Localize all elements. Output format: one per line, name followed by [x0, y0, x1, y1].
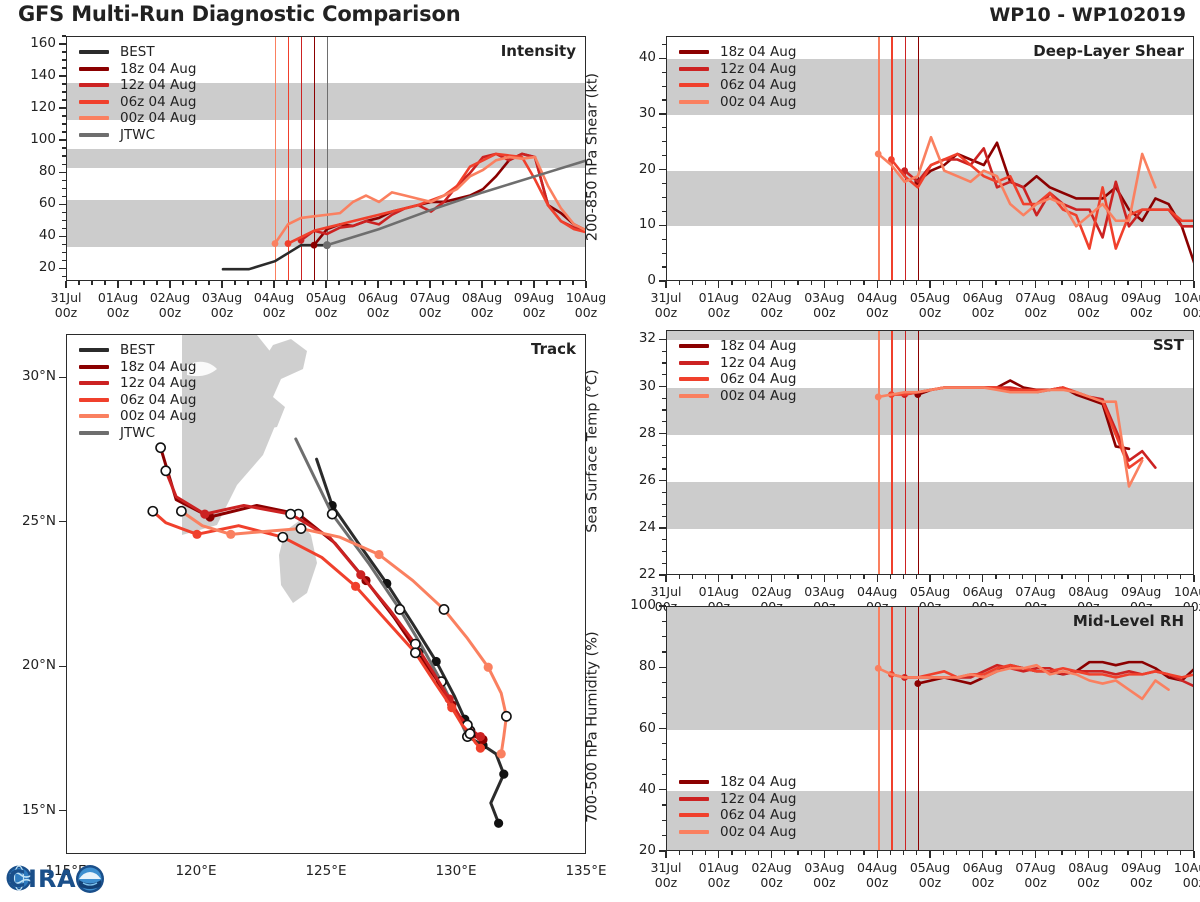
y-tick-mark [59, 377, 66, 378]
panel-title-mid-level-rh: Mid-Level RH [1073, 612, 1184, 630]
y-minor-tick [62, 244, 66, 245]
x-tick-label: 10Aug00z [1159, 290, 1200, 320]
x-tick-hour: 00z [1130, 875, 1152, 890]
x-minor-tick [969, 851, 970, 855]
legend-item[interactable]: JTWC [79, 127, 196, 144]
legend-item[interactable]: 18z 04 Aug [679, 774, 796, 791]
legend-swatch [79, 365, 109, 369]
y-minor-tick [662, 457, 666, 458]
x-minor-tick [784, 851, 785, 855]
y-minor-tick [662, 682, 666, 683]
y-minor-tick [662, 835, 666, 836]
x-tick-hour: 00z [419, 305, 441, 320]
x-minor-tick [364, 281, 365, 285]
y-minor-tick [662, 374, 666, 375]
x-tick-date: 03Aug [804, 860, 844, 875]
x-tick-date: 09Aug [1121, 290, 1161, 305]
x-tick-mark [824, 281, 825, 288]
x-minor-tick [1180, 575, 1181, 579]
series-start-marker [875, 394, 882, 401]
y-minor-tick [662, 804, 666, 805]
storm-id-label: WP10 - WP102019 [989, 4, 1186, 26]
legend-swatch [79, 431, 109, 435]
x-tick-date: 08Aug [462, 290, 502, 305]
x-tick-date: 06Aug [358, 290, 398, 305]
y-minor-tick [662, 58, 666, 59]
y-minor-tick [662, 409, 666, 410]
x-tick-label: 10Aug00z [551, 290, 621, 320]
legend-label: 12z 04 Aug [720, 61, 796, 77]
x-minor-tick [338, 281, 339, 285]
y-minor-tick [662, 621, 666, 622]
legend-swatch [679, 797, 709, 801]
x-minor-tick [916, 575, 917, 579]
x-tick-label: 10Aug00z [1159, 860, 1200, 890]
x-minor-tick [208, 281, 209, 285]
legend-swatch [79, 398, 109, 402]
x-tick-date: 05Aug [910, 584, 950, 599]
x-tick-date: 10Aug [1174, 584, 1200, 599]
x-tick-hour: 00z [813, 875, 835, 890]
x-minor-tick [1114, 281, 1115, 285]
x-minor-tick [1154, 575, 1155, 579]
x-tick-date: 04Aug [857, 860, 897, 875]
y-minor-tick [662, 563, 666, 564]
y-minor-tick [62, 228, 66, 229]
legend-item[interactable]: 12z 04 Aug [79, 375, 196, 392]
legend-item[interactable]: BEST [79, 44, 196, 61]
x-minor-tick [956, 281, 957, 285]
x-minor-tick [903, 281, 904, 285]
x-minor-tick [390, 281, 391, 285]
x-minor-tick [247, 281, 248, 285]
x-minor-tick [811, 851, 812, 855]
legend-swatch [679, 394, 709, 398]
y-minor-tick [662, 651, 666, 652]
x-minor-tick [78, 281, 79, 285]
legend-item[interactable]: 06z 04 Aug [679, 371, 796, 388]
y-minor-tick [662, 820, 666, 821]
x-minor-tick [731, 281, 732, 285]
x-tick-mark [982, 851, 983, 858]
x-tick-date: 05Aug [306, 290, 346, 305]
x-tick-date: 01Aug [699, 860, 739, 875]
legend-swatch [79, 50, 109, 54]
legend-label: BEST [120, 44, 155, 60]
y-tick-label: 40 [0, 227, 56, 243]
x-tick-label: 120°E [156, 864, 236, 879]
series-start-marker [285, 240, 292, 247]
y-minor-tick [662, 339, 666, 340]
x-tick-mark [481, 281, 482, 288]
x-tick-hour: 00z [972, 875, 994, 890]
x-tick-mark [1035, 851, 1036, 858]
y-tick-mark [59, 521, 66, 522]
y-minor-tick [62, 164, 66, 165]
x-tick-mark [771, 575, 772, 582]
cira-logo: CIRA [4, 858, 108, 898]
x-minor-tick [1101, 281, 1102, 285]
x-minor-tick [403, 281, 404, 285]
x-tick-mark [824, 851, 825, 858]
x-minor-tick [850, 281, 851, 285]
x-minor-tick [916, 281, 917, 285]
cira-wordmark: CIRA [8, 865, 76, 893]
legend-item[interactable]: 12z 04 Aug [679, 61, 796, 78]
y-minor-tick [662, 480, 666, 481]
x-minor-tick [890, 575, 891, 579]
track-point-marker [476, 744, 485, 753]
x-minor-tick [1061, 851, 1062, 855]
x-tick-hour: 00z [211, 305, 233, 320]
x-tick-date: 08Aug [1068, 584, 1108, 599]
x-tick-hour: 00z [107, 305, 129, 320]
x-minor-tick [1180, 851, 1181, 855]
legend-label: 06z 04 Aug [720, 77, 796, 93]
track-point-marker [192, 530, 201, 539]
x-minor-tick [863, 851, 864, 855]
x-minor-tick [195, 281, 196, 285]
x-tick-date: 07Aug [410, 290, 450, 305]
x-minor-tick [1114, 851, 1115, 855]
legend-item[interactable]: 18z 04 Aug [79, 61, 196, 78]
y-minor-tick [662, 697, 666, 698]
y-minor-tick [662, 759, 666, 760]
legend-item[interactable]: 18z 04 Aug [679, 44, 796, 61]
x-minor-tick [679, 281, 680, 285]
x-minor-tick [234, 281, 235, 285]
track-point-marker [465, 729, 474, 738]
x-tick-date: 02Aug [751, 290, 791, 305]
x-minor-tick [1075, 281, 1076, 285]
legend-label: 00z 04 Aug [720, 388, 796, 404]
x-minor-tick [1009, 575, 1010, 579]
y-tick-label: 140 [0, 67, 56, 83]
x-tick-hour: 00z [1077, 305, 1099, 320]
y-minor-tick [662, 421, 666, 422]
y-axis-label: 700-500 hPa Humidity (%) [584, 604, 600, 849]
x-minor-tick [679, 851, 680, 855]
legend-item[interactable]: 00z 04 Aug [79, 110, 196, 127]
x-minor-tick [507, 281, 508, 285]
legend-item[interactable]: 00z 04 Aug [679, 824, 796, 841]
legend-item[interactable]: 00z 04 Aug [79, 408, 196, 425]
x-minor-tick [784, 281, 785, 285]
x-minor-tick [546, 281, 547, 285]
x-minor-tick [705, 851, 706, 855]
x-tick-mark [665, 851, 666, 858]
y-minor-tick [662, 183, 666, 184]
x-tick-date: 08Aug [1068, 860, 1108, 875]
legend-item[interactable]: 18z 04 Aug [679, 338, 796, 355]
legend-swatch [679, 67, 709, 71]
y-minor-tick [62, 276, 66, 277]
track-point-marker [499, 770, 508, 779]
y-minor-tick [62, 43, 66, 44]
x-tick-mark [718, 575, 719, 582]
y-minor-tick [662, 266, 666, 267]
y-minor-tick [62, 252, 66, 253]
x-tick-hour: 00z [55, 305, 77, 320]
x-minor-tick [1127, 851, 1128, 855]
x-tick-hour: 00z [919, 305, 941, 320]
x-minor-tick [286, 281, 287, 285]
x-tick-hour: 00z [866, 875, 888, 890]
x-tick-hour: 00z [972, 305, 994, 320]
y-minor-tick [662, 86, 666, 87]
y-tick-label: 120 [0, 99, 56, 115]
x-minor-tick [705, 575, 706, 579]
x-minor-tick [1075, 851, 1076, 855]
y-minor-tick [662, 155, 666, 156]
y-minor-tick [662, 211, 666, 212]
y-minor-tick [662, 253, 666, 254]
series-line [905, 665, 1194, 686]
x-tick-mark [377, 281, 378, 288]
y-minor-tick [62, 268, 66, 269]
y-minor-tick [62, 107, 66, 108]
x-minor-tick [797, 851, 798, 855]
x-minor-tick [520, 281, 521, 285]
legend-item[interactable]: 12z 04 Aug [79, 77, 196, 94]
plot-track: TrackBEST18z 04 Aug12z 04 Aug06z 04 Aug0… [66, 334, 586, 854]
x-minor-tick [956, 851, 957, 855]
y-minor-tick [662, 516, 666, 517]
legend-label: 06z 04 Aug [120, 94, 196, 110]
x-tick-mark [169, 281, 170, 288]
y-minor-tick [62, 155, 66, 156]
y-minor-tick [662, 225, 666, 226]
y-minor-tick [62, 99, 66, 100]
x-minor-tick [260, 281, 261, 285]
x-tick-mark [1035, 281, 1036, 288]
legend-item[interactable]: 00z 04 Aug [679, 94, 796, 111]
track-point-marker [447, 703, 456, 712]
x-minor-tick [1022, 851, 1023, 855]
x-tick-hour: 00z [315, 305, 337, 320]
legend-item[interactable]: BEST [79, 342, 196, 359]
legend-label: 00z 04 Aug [720, 824, 796, 840]
x-tick-mark [1141, 281, 1142, 288]
x-tick-date: 05Aug [910, 860, 950, 875]
x-tick-mark [665, 575, 666, 582]
x-minor-tick [1154, 851, 1155, 855]
legend-item[interactable]: 06z 04 Aug [679, 77, 796, 94]
legend-label: JTWC [120, 425, 155, 441]
y-tick-label: 20 [0, 259, 56, 275]
x-tick-date: 10Aug [1174, 290, 1200, 305]
x-tick-hour: 00z [1183, 875, 1200, 890]
legend-swatch [79, 414, 109, 418]
x-tick-date: 31Jul [651, 860, 682, 875]
track-point-marker [226, 530, 235, 539]
legend-swatch [79, 348, 109, 352]
legend-swatch [679, 780, 709, 784]
legend-label: 12z 04 Aug [720, 791, 796, 807]
legend-item[interactable]: 06z 04 Aug [679, 807, 796, 824]
track-point-marker [356, 570, 365, 579]
x-tick-mark [1193, 281, 1194, 288]
x-tick-date: 04Aug [857, 290, 897, 305]
x-minor-tick [811, 281, 812, 285]
x-tick-mark [824, 575, 825, 582]
legend-label: BEST [120, 342, 155, 358]
x-minor-tick [1048, 281, 1049, 285]
y-minor-tick [62, 67, 66, 68]
x-tick-hour: 00z [1183, 305, 1200, 320]
x-minor-tick [850, 575, 851, 579]
y-minor-tick [62, 196, 66, 197]
y-tick-label: 25°N [0, 513, 56, 529]
x-minor-tick [312, 281, 313, 285]
x-minor-tick [1167, 281, 1168, 285]
x-minor-tick [468, 281, 469, 285]
track-point-marker [374, 550, 383, 559]
x-tick-mark [1088, 281, 1089, 288]
y-minor-tick [62, 75, 66, 76]
y-minor-tick [62, 260, 66, 261]
x-minor-tick [416, 281, 417, 285]
track-point-marker [177, 507, 186, 516]
legend-swatch [679, 344, 709, 348]
svg-text:I: I [28, 865, 37, 893]
legend-item[interactable]: 12z 04 Aug [679, 355, 796, 372]
x-minor-tick [679, 575, 680, 579]
x-minor-tick [299, 281, 300, 285]
y-minor-tick [662, 433, 666, 434]
x-minor-tick [745, 851, 746, 855]
x-tick-mark [221, 281, 222, 288]
y-minor-tick [662, 362, 666, 363]
y-minor-tick [662, 743, 666, 744]
x-tick-date: 06Aug [963, 584, 1003, 599]
x-minor-tick [1101, 575, 1102, 579]
x-tick-date: 09Aug [514, 290, 554, 305]
legend-swatch [79, 116, 109, 120]
legend-item[interactable]: 12z 04 Aug [679, 791, 796, 808]
x-minor-tick [943, 281, 944, 285]
x-tick-mark [325, 281, 326, 288]
y-minor-tick [662, 445, 666, 446]
x-minor-tick [943, 851, 944, 855]
x-minor-tick [956, 575, 957, 579]
plot-sst: SST18z 04 Aug12z 04 Aug06z 04 Aug00z 04 … [666, 330, 1194, 575]
x-minor-tick [1061, 281, 1062, 285]
legend-item[interactable]: JTWC [79, 425, 196, 442]
track-point-marker [296, 524, 305, 533]
x-minor-tick [745, 281, 746, 285]
svg-text:C: C [8, 865, 26, 893]
x-tick-hour: 00z [1130, 305, 1152, 320]
x-minor-tick [890, 281, 891, 285]
legend-label: 00z 04 Aug [120, 110, 196, 126]
y-minor-tick [62, 139, 66, 140]
x-minor-tick [731, 851, 732, 855]
x-minor-tick [903, 851, 904, 855]
x-tick-hour: 00z [1077, 875, 1099, 890]
x-minor-tick [850, 851, 851, 855]
x-minor-tick [1022, 575, 1023, 579]
x-tick-hour: 00z [813, 305, 835, 320]
y-minor-tick [62, 51, 66, 52]
series-start-marker [311, 242, 318, 249]
x-tick-date: 31Jul [651, 290, 682, 305]
legend-swatch [679, 83, 709, 87]
x-minor-tick [156, 281, 157, 285]
x-minor-tick [572, 281, 573, 285]
y-minor-tick [662, 239, 666, 240]
y-tick-label: 30°N [0, 368, 56, 384]
legend-label: 00z 04 Aug [720, 94, 796, 110]
series-line [905, 388, 1156, 468]
x-minor-tick [863, 281, 864, 285]
x-tick-mark [1035, 575, 1036, 582]
x-minor-tick [797, 281, 798, 285]
svg-text:A: A [57, 865, 76, 893]
x-tick-date: 06Aug [963, 860, 1003, 875]
x-tick-mark [929, 851, 930, 858]
x-tick-hour: 00z [523, 305, 545, 320]
x-tick-date: 10Aug [1174, 860, 1200, 875]
x-minor-tick [1101, 851, 1102, 855]
series-start-marker [875, 151, 882, 158]
track-point-marker [156, 443, 165, 452]
x-minor-tick [837, 851, 838, 855]
x-minor-tick [692, 575, 693, 579]
x-tick-hour: 00z [1024, 875, 1046, 890]
x-tick-date: 06Aug [963, 290, 1003, 305]
x-minor-tick [758, 281, 759, 285]
x-tick-mark [982, 575, 983, 582]
y-tick-label: 80 [0, 163, 56, 179]
x-tick-date: 02Aug [751, 584, 791, 599]
y-minor-tick [62, 91, 66, 92]
legend-item[interactable]: 06z 04 Aug [79, 392, 196, 409]
plot-intensity: IntensityBEST18z 04 Aug12z 04 Aug06z 04 … [66, 36, 586, 281]
y-minor-tick [62, 123, 66, 124]
track-point-marker [395, 605, 404, 614]
y-tick-mark [59, 666, 66, 667]
x-tick-date: 02Aug [751, 860, 791, 875]
series-line [891, 388, 1142, 468]
y-minor-tick [662, 492, 666, 493]
track-point-marker [328, 510, 337, 519]
y-minor-tick [662, 504, 666, 505]
x-tick-mark [665, 281, 666, 288]
y-tick-label: 160 [0, 35, 56, 51]
legend-label: 12z 04 Aug [720, 355, 796, 371]
panel-title-intensity: Intensity [501, 42, 576, 60]
x-minor-tick [104, 281, 105, 285]
legend-item[interactable]: 00z 04 Aug [679, 388, 796, 405]
legend-item[interactable]: 06z 04 Aug [79, 94, 196, 111]
track-point-marker [439, 605, 448, 614]
x-minor-tick [811, 575, 812, 579]
y-minor-tick [662, 197, 666, 198]
x-minor-tick [1009, 851, 1010, 855]
x-minor-tick [1167, 575, 1168, 579]
x-minor-tick [1167, 851, 1168, 855]
legend-item[interactable]: 18z 04 Aug [79, 359, 196, 376]
x-tick-date: 10Aug [566, 290, 606, 305]
x-tick-mark [533, 281, 534, 288]
y-minor-tick [662, 141, 666, 142]
y-minor-tick [62, 220, 66, 221]
x-minor-tick [969, 281, 970, 285]
y-minor-tick [662, 99, 666, 100]
x-tick-hour: 00z [575, 305, 597, 320]
panel-title-track: Track [531, 340, 576, 358]
